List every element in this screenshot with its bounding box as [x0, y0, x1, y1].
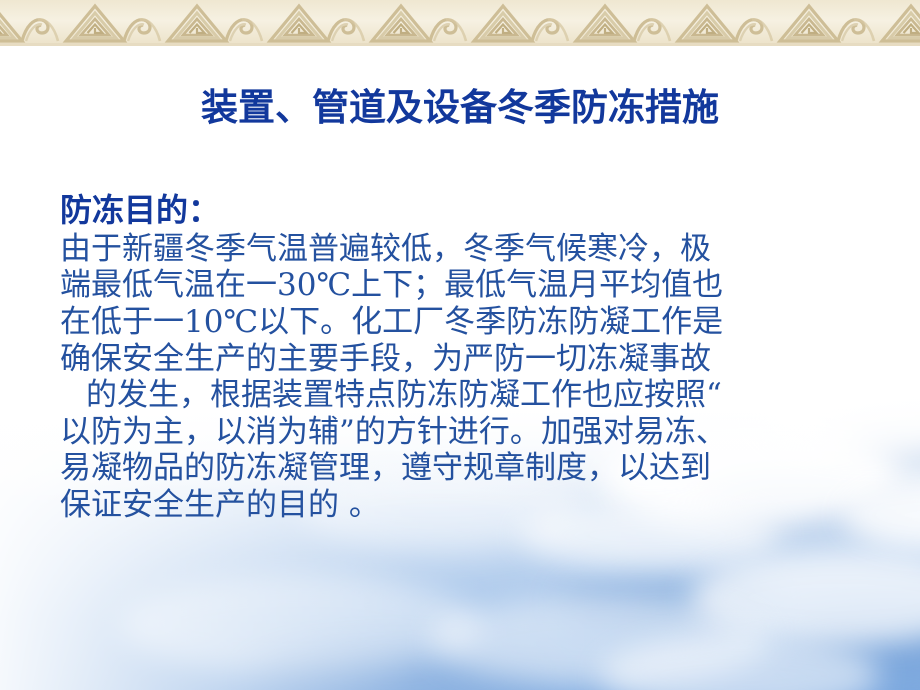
slide-body: 防冻目的： 由于新疆冬季气温普遍较低，冬季气候寒冷，极 端最低气温在一30℃上下…	[60, 192, 890, 524]
presentation-slide: 装置、管道及设备冬季防冻措施 防冻目的： 由于新疆冬季气温普遍较低，冬季气候寒冷…	[0, 0, 920, 690]
body-paragraph-line: 端最低气温在一30℃上下；最低气温月平均值也	[60, 267, 890, 304]
sky-patch	[560, 575, 770, 630]
body-paragraph-line: 的发生，根据装置特点防冻防凝工作也应按照“	[60, 377, 890, 414]
body-paragraph-line: 由于新疆冬季气温普遍较低，冬季气候寒冷，极	[60, 231, 890, 268]
cloud-puff	[430, 595, 770, 685]
slide-title: 装置、管道及设备冬季防冻措施	[0, 86, 920, 129]
cloud-puff	[690, 550, 920, 645]
body-paragraph-line: 以防为主，以消为辅”的方针进行。加强对易冻、	[60, 414, 890, 451]
body-paragraph-line: 在低于一10℃以下。化工厂冬季防冻防凝工作是	[60, 304, 890, 341]
cloud-puff	[120, 575, 480, 675]
tribal-triangle-spiral-border	[0, 0, 920, 46]
body-paragraph-line: 易凝物品的防冻凝管理，遵守规章制度，以达到	[60, 450, 890, 487]
body-paragraph-line: 保证安全生产的目的 。	[60, 487, 890, 524]
body-paragraph-line: 确保安全生产的主要手段，为严防一切冻凝事故	[60, 341, 890, 378]
sky-patch	[790, 610, 920, 670]
cloud-puff	[600, 635, 880, 690]
body-heading: 防冻目的：	[60, 192, 890, 229]
sky-patch	[250, 650, 550, 690]
